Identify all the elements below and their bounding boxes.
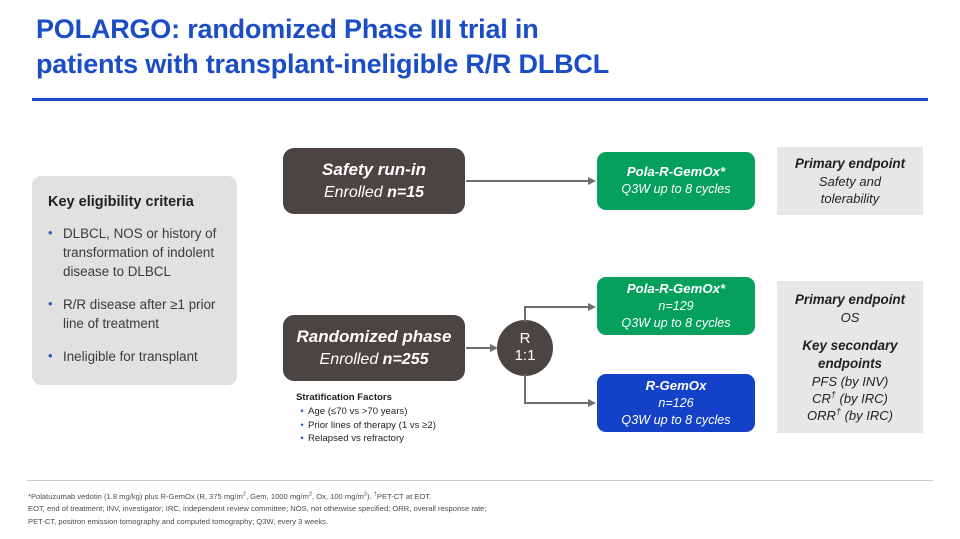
stratification-title: Stratification Factors (296, 392, 511, 403)
arm-box-pola-r-gemox: Pola-R-GemOx* n=129 Q3W up to 8 cycles (597, 277, 755, 335)
endpoint-secondary-cr-label: CR (812, 391, 831, 406)
endpoint-secondary-orr-label: ORR (807, 408, 836, 423)
stratification-factors-block: Stratification Factors • Age (≤70 vs >70… (296, 392, 511, 446)
endpoint-secondary-orr-rest: (by IRC) (841, 408, 893, 423)
footnote-line-1: *Polatuzumab vedotin (1.8 mg/kg) plus R-… (28, 491, 928, 503)
footnote-1-part-c: , Ox, 100 mg/m (312, 492, 364, 501)
title-divider (32, 98, 928, 101)
endpoint-panel-efficacy: Primary endpoint OS Key secondary endpoi… (777, 281, 923, 433)
stratification-item-text: Prior lines of therapy (1 vs ≥2) (308, 419, 436, 433)
safety-run-in-enrolled-prefix: Enrolled (324, 184, 387, 201)
safety-run-in-enrolled: Enrolled n=15 (324, 182, 424, 203)
randomized-phase-label: Randomized phase (297, 326, 452, 349)
safety-run-in-box: Safety run-in Enrolled n=15 (283, 148, 465, 214)
stratification-list-item: • Prior lines of therapy (1 vs ≥2) (296, 419, 511, 433)
randomization-node: R 1:1 (497, 320, 553, 376)
connector-randomized-to-circle (466, 347, 491, 349)
footnote-1-part-b: , Gem, 1000 mg/m (246, 492, 309, 501)
endpoint-primary-heading: Primary endpoint (777, 291, 923, 309)
stratification-list-item: • Relapsed vs refractory (296, 432, 511, 446)
randomized-phase-box: Randomized phase Enrolled n=255 (283, 315, 465, 381)
connector-branch-upper-horizontal (524, 306, 588, 308)
endpoint-secondary-heading-line-1: Key secondary (777, 337, 923, 355)
connector-branch-lower-vertical (524, 374, 526, 403)
arm-name: R-GemOx (646, 377, 707, 395)
bullet-icon: • (296, 405, 308, 419)
page-title-line-1: POLARGO: randomized Phase III trial in (36, 12, 736, 47)
eligibility-list-item: • Ineligible for transplant (48, 347, 223, 366)
arm-box-safety-pola-r-gemox: Pola-R-GemOx* Q3W up to 8 cycles (597, 152, 755, 210)
randomization-ratio: 1:1 (515, 348, 536, 365)
arrow-icon (588, 303, 596, 311)
page-title-line-2: patients with transplant-ineligible R/R … (36, 47, 736, 82)
endpoint-safety-heading: Primary endpoint (777, 155, 923, 173)
eligibility-list-item: • DLBCL, NOS or history of transformatio… (48, 224, 223, 281)
stratification-item-text: Age (≤70 vs >70 years) (308, 405, 407, 419)
footnote-1-part-a: *Polatuzumab vedotin (1.8 mg/kg) plus R-… (28, 492, 243, 501)
connector-safety-to-arm (466, 180, 588, 182)
connector-branch-upper-vertical (524, 306, 526, 322)
bullet-icon: • (296, 432, 308, 446)
endpoint-secondary-pfs: PFS (by INV) (777, 373, 923, 390)
safety-run-in-label: Safety run-in (322, 159, 426, 182)
bullet-icon: • (48, 224, 63, 281)
safety-run-in-enrolled-count: n=15 (387, 184, 424, 201)
randomized-phase-enrolled: Enrolled n=255 (320, 349, 429, 370)
eligibility-item-text: R/R disease after ≥1 prior line of treat… (63, 295, 223, 333)
endpoint-primary-value: OS (777, 309, 923, 326)
endpoint-secondary-cr: CR† (by IRC) (777, 390, 923, 407)
eligibility-panel-title: Key eligibility criteria (48, 194, 223, 210)
endpoint-panel-safety: Primary endpoint Safety and tolerability (777, 147, 923, 215)
arm-schedule: Q3W up to 8 cycles (621, 181, 730, 198)
arrow-icon (588, 177, 596, 185)
footnote-1-part-e: PET-CT at EOT. (377, 492, 431, 501)
bullet-icon: • (48, 295, 63, 333)
arm-sample-size: n=129 (658, 298, 693, 315)
randomized-phase-enrolled-prefix: Enrolled (320, 351, 383, 368)
arm-name: Pola-R-GemOx* (627, 163, 725, 181)
randomization-letter: R (520, 331, 531, 348)
endpoint-secondary-orr: ORR† (by IRC) (777, 407, 923, 424)
endpoint-secondary-cr-rest: (by IRC) (836, 391, 888, 406)
arm-schedule: Q3W up to 8 cycles (621, 412, 730, 429)
arm-name: Pola-R-GemOx* (627, 280, 725, 298)
footnote-divider (27, 480, 933, 481)
footnote-1-part-d: ). (367, 492, 374, 501)
spacer (777, 326, 923, 337)
eligibility-list-item: • R/R disease after ≥1 prior line of tre… (48, 295, 223, 333)
endpoint-safety-line-1: Safety and (777, 173, 923, 190)
eligibility-item-text: DLBCL, NOS or history of transformation … (63, 224, 223, 281)
stratification-list-item: • Age (≤70 vs >70 years) (296, 405, 511, 419)
randomized-phase-enrolled-count: n=255 (383, 351, 429, 368)
endpoint-safety-line-2: tolerability (777, 190, 923, 207)
eligibility-item-text: Ineligible for transplant (63, 347, 198, 366)
arrow-icon (588, 399, 596, 407)
arm-schedule: Q3W up to 8 cycles (621, 315, 730, 332)
footnote-line-2: EOT, end of treatment; INV, investigator… (28, 503, 928, 515)
eligibility-criteria-panel: Key eligibility criteria • DLBCL, NOS or… (32, 176, 237, 385)
footnote-line-3: PET-CT, positron emission tomography and… (28, 516, 928, 528)
connector-branch-lower-horizontal (524, 402, 588, 404)
bullet-icon: • (48, 347, 63, 366)
page-title: POLARGO: randomized Phase III trial in p… (36, 12, 736, 81)
arm-box-r-gemox: R-GemOx n=126 Q3W up to 8 cycles (597, 374, 755, 432)
stratification-item-text: Relapsed vs refractory (308, 432, 404, 446)
bullet-icon: • (296, 419, 308, 433)
footnote-block: *Polatuzumab vedotin (1.8 mg/kg) plus R-… (28, 491, 928, 528)
arm-sample-size: n=126 (658, 395, 693, 412)
endpoint-secondary-heading-line-2: endpoints (777, 355, 923, 373)
